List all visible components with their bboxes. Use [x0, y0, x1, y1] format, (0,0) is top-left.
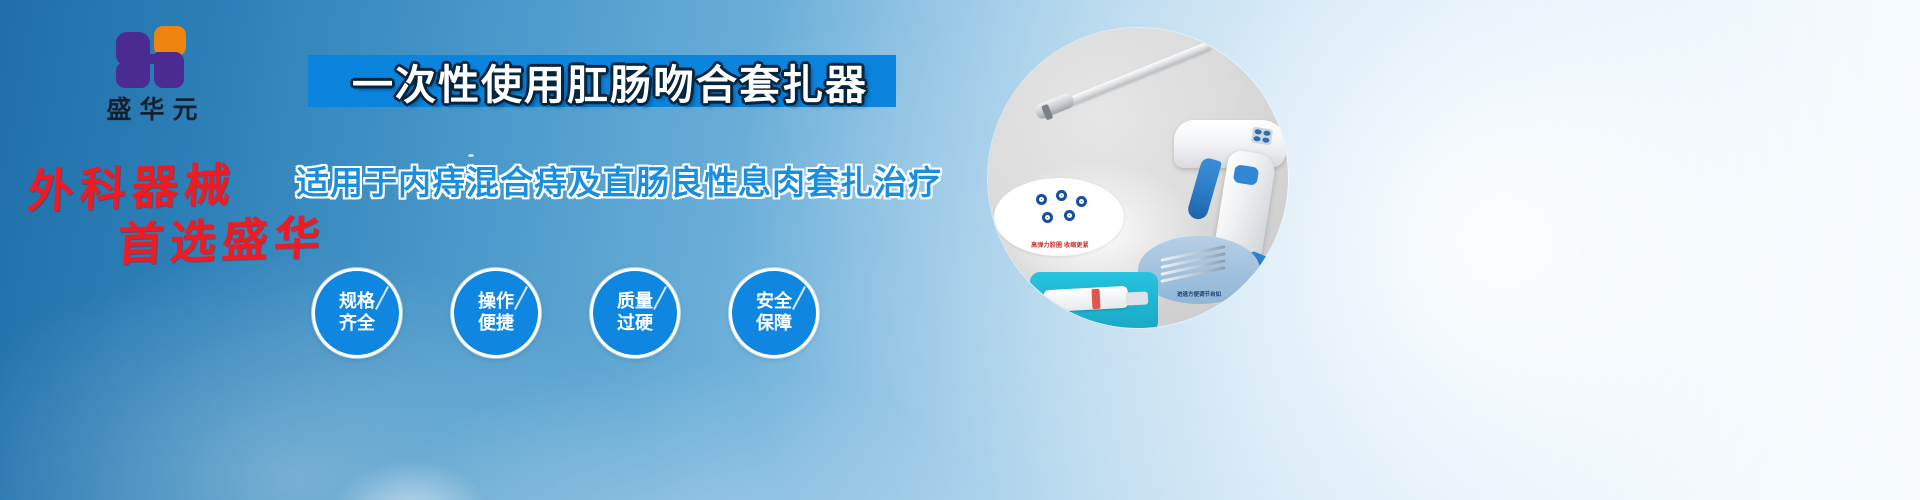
rubber-ring-icon — [1042, 212, 1053, 223]
indicator-dot — [1253, 136, 1261, 142]
product-photo: 高弹力胶圈 收缩更紧 进退方便调节自如 — [988, 28, 1288, 328]
logo-wordmark: 盛华元 — [98, 90, 205, 126]
brand-logo[interactable]: 盛华元 — [62, 26, 242, 126]
feature-badge-line-2: 保障 — [756, 313, 792, 335]
device-accent — [1233, 164, 1260, 186]
feature-badge-line-1: 安全 — [756, 291, 792, 313]
feature-badge-safety[interactable]: 安全 保障 — [729, 268, 819, 358]
background-blob-bottom — [330, 460, 490, 500]
cartridge-nose — [1126, 291, 1149, 305]
cartridge-stripe — [1091, 289, 1100, 309]
feature-badge-line-2: 便捷 — [478, 313, 514, 335]
inset-needles-caption: 进退方便调节自如 — [1144, 290, 1254, 298]
cartridge-body — [1043, 286, 1128, 312]
rubber-ring-icon — [1036, 194, 1047, 205]
inset-rubber-rings: 高弹力胶圈 收缩更紧 — [994, 178, 1124, 256]
logo-block-connector — [136, 54, 162, 64]
feature-badge-specs[interactable]: 规格 齐全 — [312, 268, 402, 358]
device-indicator-dots — [1251, 127, 1273, 146]
rubber-ring-icon — [1056, 190, 1067, 201]
inset-cartridge — [1030, 272, 1158, 328]
rubber-ring-icon — [1076, 196, 1087, 207]
feature-badge-line-1: 操作 — [478, 291, 514, 313]
slogan-line-2: 首选盛华 — [116, 201, 328, 274]
feature-badge-operation[interactable]: 操作 便捷 — [451, 268, 541, 358]
feature-badge-quality[interactable]: 质量 过硬 — [590, 268, 680, 358]
indicator-dot — [1263, 130, 1271, 136]
feature-badge-list: 规格 齐全 操作 便捷 质量 过硬 安全 保障 — [312, 268, 852, 364]
feature-badge-line-2: 过硬 — [617, 313, 653, 335]
inset-rings-caption: 高弹力胶圈 收缩更紧 — [1008, 240, 1112, 249]
feature-badge-line-2: 齐全 — [339, 313, 375, 335]
page-subtitle: 适用于内痔混合痔及直肠良性息肉套扎治疗 — [296, 158, 906, 202]
page-title: 一次性使用肛肠吻合套扎器 — [330, 52, 890, 110]
rubber-ring-icon — [1064, 210, 1075, 221]
device-shaft-tip — [1033, 92, 1076, 121]
promo-banner: 盛华元 一次性使用肛肠吻合套扎器 适用于内痔混合痔及直肠良性息肉套扎治疗 外科器… — [0, 0, 1920, 500]
logo-block-bottom-left — [116, 62, 150, 88]
logo-mark-icon — [116, 26, 188, 85]
feature-badge-line-1: 质量 — [617, 291, 653, 313]
indicator-dot — [1254, 129, 1262, 135]
feature-badge-line-1: 规格 — [339, 291, 375, 313]
brand-slogan: 外科器械 首选盛华 — [20, 150, 340, 260]
indicator-dot — [1262, 137, 1270, 143]
